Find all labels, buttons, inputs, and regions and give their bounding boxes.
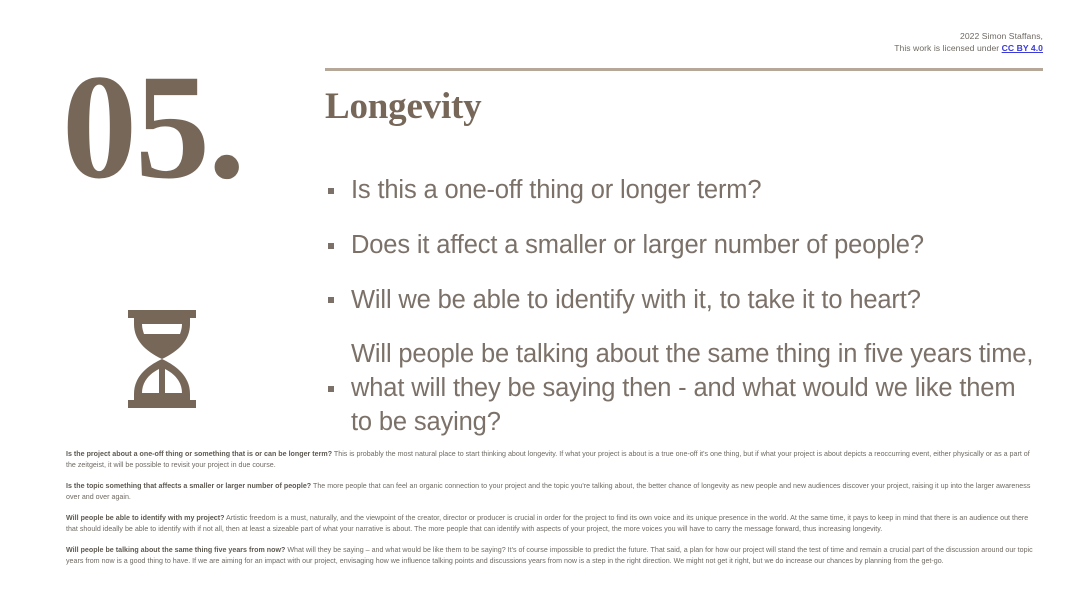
list-item: Will people be talking about the same th… (325, 338, 1043, 440)
footnote-paragraph: Will people be able to identify with my … (66, 513, 1040, 536)
slide-content: Longevity Is this a one-off thing or lon… (325, 68, 1043, 440)
footnote-lead: Will people be able to identify with my … (66, 514, 224, 522)
bullet-square-icon (328, 386, 334, 392)
bullet-square-icon (328, 188, 334, 194)
list-item-label: Is this a one-off thing or longer term? (351, 174, 761, 208)
list-item: Does it affect a smaller or larger numbe… (325, 229, 1043, 263)
slide-number: 05. (62, 52, 312, 202)
bullet-square-icon (328, 297, 334, 303)
credit-license-line: This work is licensed under CC BY 4.0 (894, 42, 1043, 54)
list-item: Will we be able to identify with it, to … (325, 284, 1043, 318)
page-title: Longevity (325, 87, 1043, 128)
credit-license-prefix: This work is licensed under (894, 43, 1001, 53)
list-item: Is this a one-off thing or longer term? (325, 174, 1043, 208)
bullet-square-icon (328, 243, 334, 249)
copyright-credit: 2022 Simon Staffans, This work is licens… (894, 30, 1043, 54)
footnote-paragraph: Is the project about a one-off thing or … (66, 449, 1040, 472)
hourglass-icon (126, 310, 198, 408)
list-item-label: Does it affect a smaller or larger numbe… (351, 229, 924, 263)
footnote-lead: Will people be talking about the same th… (66, 546, 285, 554)
footnote-paragraph: Is the topic something that affects a sm… (66, 481, 1040, 504)
question-list: Is this a one-off thing or longer term? … (325, 174, 1043, 440)
footnote-paragraph: Will people be talking about the same th… (66, 545, 1040, 568)
list-item-label: Will we be able to identify with it, to … (351, 284, 921, 318)
footnote-section: Is the project about a one-off thing or … (66, 449, 1040, 568)
cc-license-link[interactable]: CC BY 4.0 (1002, 43, 1043, 53)
list-item-label: Will people be talking about the same th… (351, 338, 1043, 440)
footnote-lead: Is the project about a one-off thing or … (66, 450, 332, 458)
title-rule (325, 68, 1043, 71)
credit-year-author: 2022 Simon Staffans, (894, 30, 1043, 42)
footnote-lead: Is the topic something that affects a sm… (66, 482, 311, 490)
